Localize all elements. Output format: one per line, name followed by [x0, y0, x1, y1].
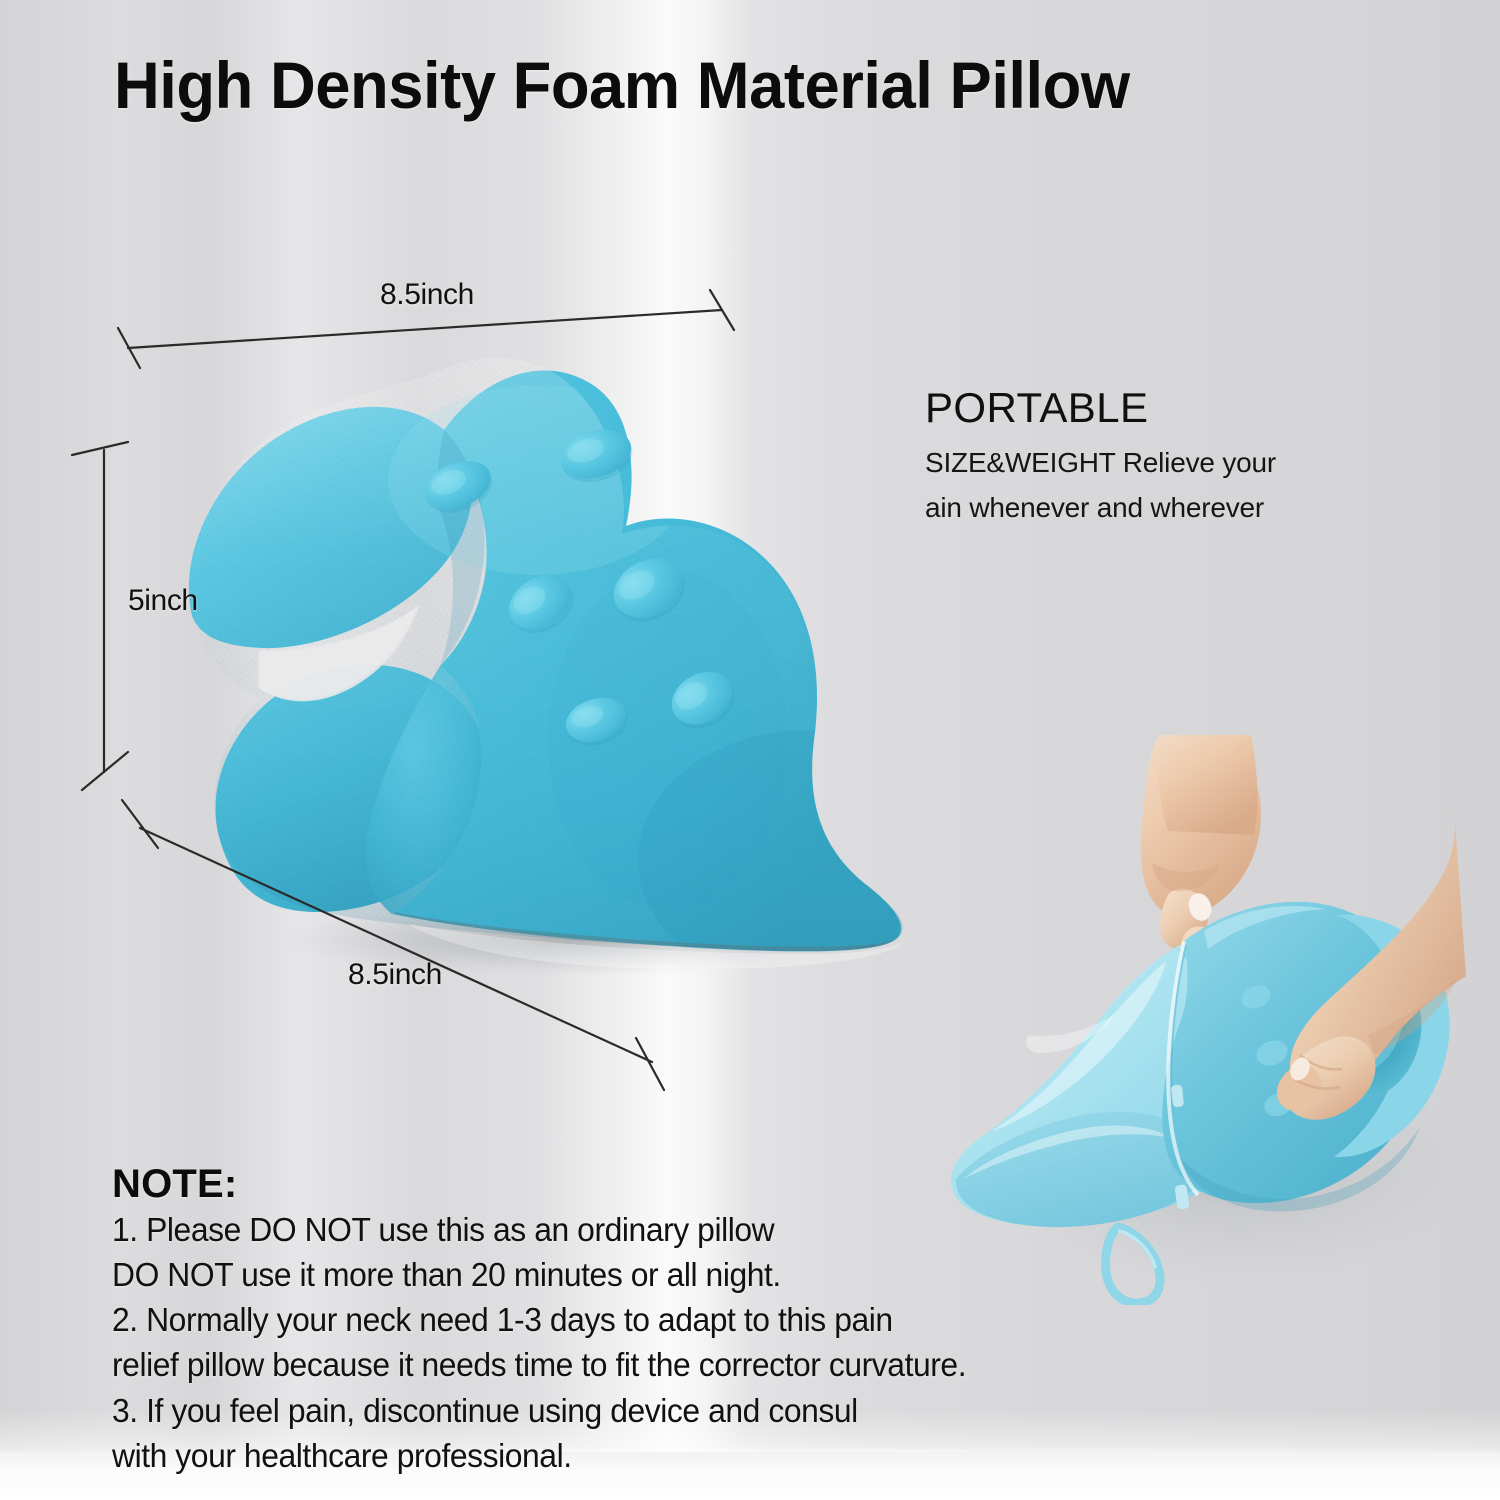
- note-line: relief pillow because it needs time to f…: [112, 1342, 1038, 1387]
- dimension-label-bottom: 8.5inch: [348, 958, 442, 992]
- dimension-label-left: 5inch: [128, 584, 198, 618]
- portable-line-1: SIZE&WEIGHT Relieve your: [925, 440, 1345, 485]
- note-line: 1. Please DO NOT use this as an ordinary…: [112, 1207, 1038, 1252]
- portable-line-2: ain whenever and wherever: [925, 485, 1345, 530]
- note-line: 2. Normally your neck need 1-3 days to a…: [112, 1297, 1038, 1342]
- dimension-label-top: 8.5inch: [380, 278, 474, 312]
- portable-heading: PORTABLE: [925, 386, 1345, 430]
- portable-description: SIZE&WEIGHT Relieve your ain whenever an…: [925, 440, 1345, 531]
- note-block: NOTE: 1. Please DO NOT use this as an or…: [112, 1162, 1072, 1478]
- note-line: with your healthcare professional.: [112, 1433, 1038, 1478]
- note-line: 3. If you feel pain, discontinue using d…: [112, 1388, 1038, 1433]
- note-line: DO NOT use it more than 20 minutes or al…: [112, 1252, 1038, 1297]
- product-main-image: [108, 320, 938, 980]
- dim-tick-bottom-right: [636, 1038, 664, 1090]
- pillow-illustration: [108, 320, 938, 980]
- page-title: High Density Foam Material Pillow: [114, 52, 1130, 118]
- note-heading: NOTE:: [112, 1162, 1072, 1207]
- portable-feature-block: PORTABLE SIZE&WEIGHT Relieve your ain wh…: [925, 386, 1345, 531]
- infographic-canvas: High Density Foam Material Pillow: [0, 0, 1500, 1500]
